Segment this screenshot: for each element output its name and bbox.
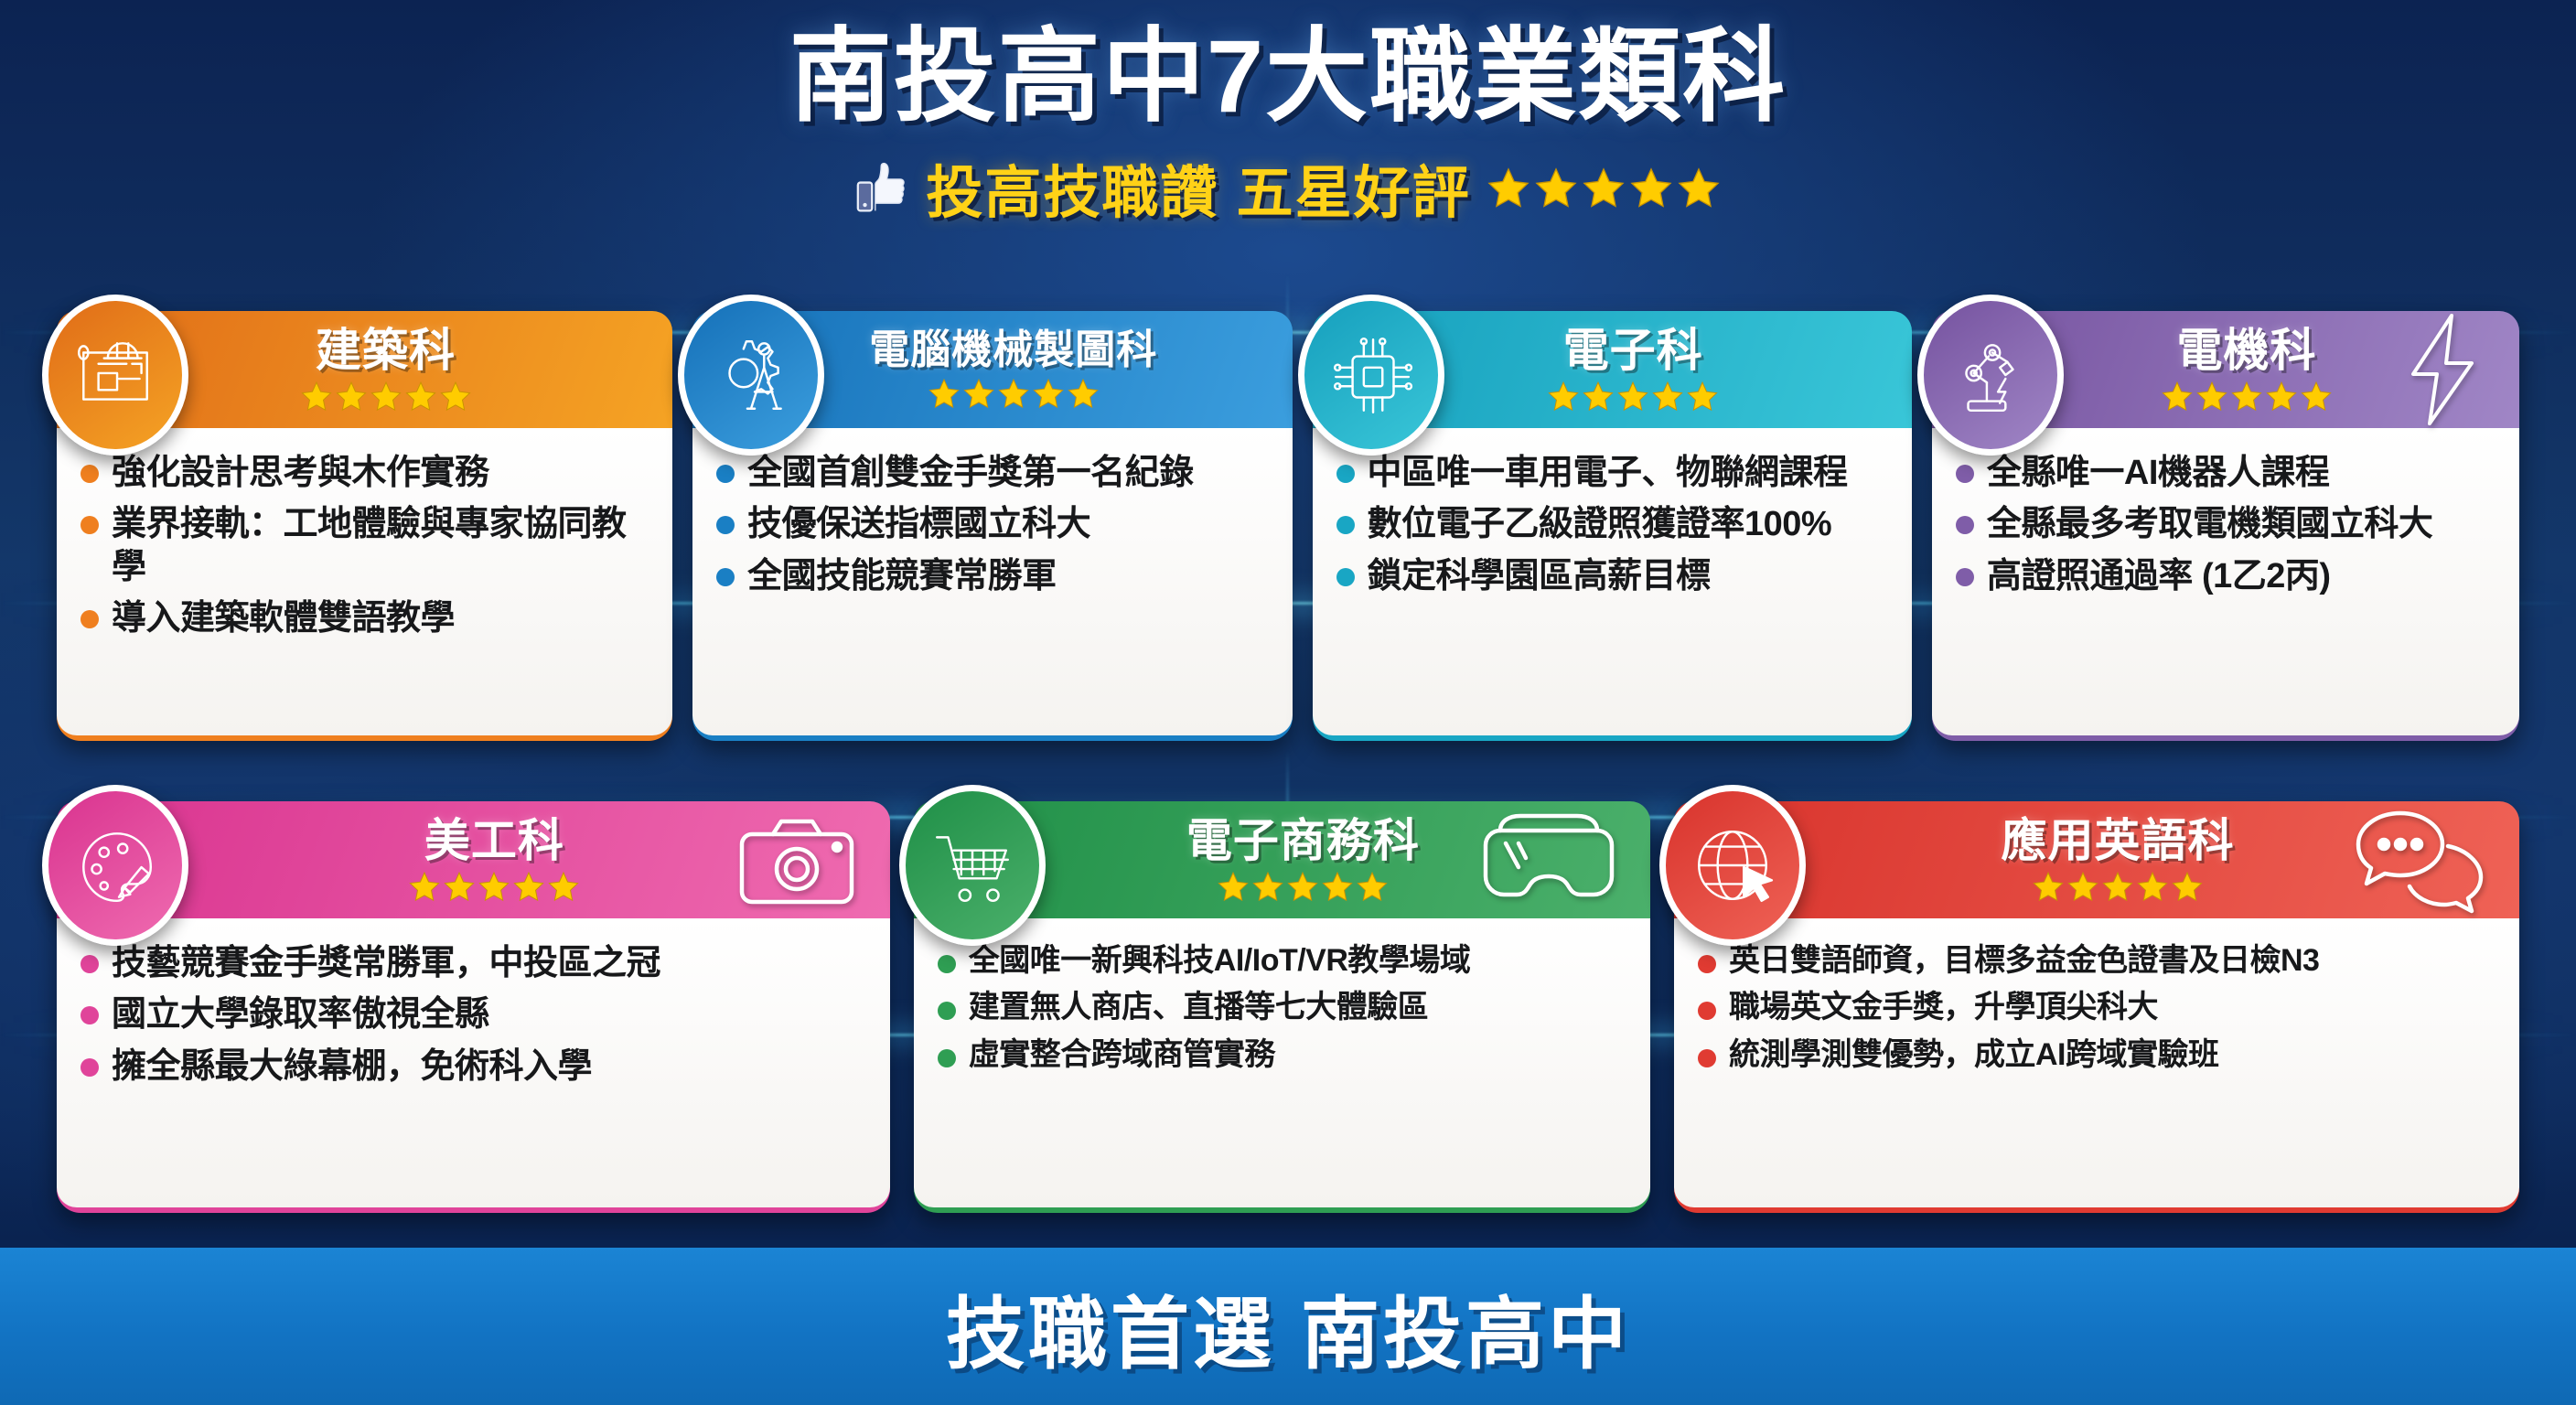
star-icon [1678,166,1720,209]
card-bullet: 導入建築軟體雙語教學 [80,597,652,639]
bullet-text: 業界接軌：工地體驗與專家協同教學 [112,503,652,588]
bullet-text: 中區唯一車用電子、物聯網課程 [1368,452,1848,494]
star-icon [1033,378,1064,409]
star-icon [2102,871,2133,902]
card-star-rating [2162,381,2332,412]
card-bullet: 業界接軌：工地體驗與專家協同教學 [80,503,652,588]
bullet-dot-icon [80,1006,99,1024]
star-icon [1548,381,1579,412]
microchip-icon [1298,295,1444,456]
star-icon [963,378,994,409]
card-title: 應用英語科 [2002,818,2235,863]
star-icon [2137,871,2168,902]
card-header: 電子商務科 [914,801,1650,918]
star-icon [301,381,332,412]
star-icon [2162,381,2193,412]
bullet-dot-icon [1698,955,1716,973]
card-grid-bottom-row: 美工科技藝競賽金手獎常勝軍，中投區之冠國立大學錄取率傲視全縣擁全縣最大綠幕棚，免… [57,801,2519,1213]
star-icon [2231,381,2262,412]
card-bullet: 全國首創雙金手獎第一名紀錄 [716,452,1272,494]
card-bullet: 技優保送指標國立科大 [716,503,1272,545]
card-title: 美工科 [424,818,564,863]
page-title: 南投高中7大職業類科 [0,0,2576,128]
star-icon [409,871,440,902]
blueprint-helmet-icon [42,295,188,456]
card-body: 強化設計思考與木作實務業界接軌：工地體驗與專家協同教學導入建築軟體雙語教學 [57,428,672,735]
card-header: 美工科 [57,801,890,918]
star-icon [336,381,367,412]
bullet-text: 全國唯一新興科技AI/IoT/VR教學場域 [969,942,1471,980]
star-icon [1583,381,1614,412]
bullet-dot-icon [938,1002,956,1020]
program-card-5[interactable]: 美工科技藝競賽金手獎常勝軍，中投區之冠國立大學錄取率傲視全縣擁全縣最大綠幕棚，免… [57,801,890,1213]
bullet-text: 國立大學錄取率傲視全縣 [112,993,489,1035]
bullet-dot-icon [1336,465,1355,483]
bullet-dot-icon [1956,516,1974,534]
card-bullet: 全縣最多考取電機類國立科大 [1956,503,2499,545]
bullet-dot-icon [80,516,99,534]
bullet-dot-icon [1698,1002,1716,1020]
program-card-2[interactable]: 電腦機械製圖科全國首創雙金手獎第一名紀錄技優保送指標國立科大全國技能競賽常勝軍 [692,311,1292,741]
card-header: 電子科 [1313,311,1912,428]
card-title: 電子科 [1563,327,1703,373]
shopping-cart-icon [899,785,1046,946]
card-bullet: 建置無人商店、直播等七大體驗區 [938,989,1630,1026]
bullet-dot-icon [716,516,735,534]
star-icon [440,381,471,412]
star-icon [1487,166,1529,209]
card-bullet: 職場英文金手獎，升學頂尖科大 [1698,989,2499,1026]
footer-slogan: 技職首選 南投高中 [946,1270,1630,1384]
star-icon [1252,871,1283,902]
program-card-4[interactable]: 電機科全縣唯一AI機器人課程全縣最多考取電機類國立科大高證照通過率 (1乙2丙) [1932,311,2519,741]
bullet-dot-icon [1336,516,1355,534]
program-card-3[interactable]: 電子科中區唯一車用電子、物聯網課程數位電子乙級證照獲證率100%鎖定科學園區高薪… [1313,311,1912,741]
card-bullet: 英日雙語師資，目標多益金色證書及日檢N3 [1698,942,2499,980]
card-bullet: 鎖定科學園區高薪目標 [1336,555,1892,597]
card-star-rating [928,378,1099,409]
star-icon [1583,166,1625,209]
bullet-text: 全縣最多考取電機類國立科大 [1987,503,2433,545]
bullet-dot-icon [80,955,99,973]
bullet-text: 導入建築軟體雙語教學 [112,597,455,639]
bullet-text: 虛實整合跨域商管實務 [969,1036,1275,1074]
card-bullet: 高證照通過率 (1乙2丙) [1956,555,2499,597]
card-bullet: 全國唯一新興科技AI/IoT/VR教學場域 [938,942,1630,980]
palette-brush-icon [42,785,188,946]
bullet-text: 高證照通過率 (1乙2丙) [1987,555,2331,597]
star-icon [2196,381,2227,412]
bullet-text: 全國技能競賽常勝軍 [747,555,1057,597]
bullet-text: 英日雙語師資，目標多益金色證書及日檢N3 [1729,942,2319,980]
bullet-text: 全國首創雙金手獎第一名紀錄 [747,452,1194,494]
card-header: 電腦機械製圖科 [692,311,1292,428]
star-icon [1630,166,1672,209]
star-icon [2067,871,2098,902]
bullet-text: 技藝競賽金手獎常勝軍，中投區之冠 [112,942,660,984]
bullet-dot-icon [80,465,99,483]
bullet-text: 建置無人商店、直播等七大體驗區 [969,989,1429,1026]
card-header: 建築科 [57,311,672,428]
card-bullet: 擁全縣最大綠幕棚，免術科入學 [80,1046,870,1088]
bullet-dot-icon [1336,568,1355,586]
card-title: 電機科 [2176,327,2316,373]
star-icon [1357,871,1388,902]
subtitle-row: 投高技職讚 五星好評 [0,146,2576,229]
star-icon [2033,871,2064,902]
gear-compass-icon [678,295,824,456]
camera-icon [736,812,857,907]
bullet-dot-icon [716,568,735,586]
star-icon [1322,871,1353,902]
lightning-bolt-icon [2399,310,2486,429]
star-icon [2172,871,2203,902]
star-icon [405,381,436,412]
star-icon [2301,381,2332,412]
star-icon [1617,381,1648,412]
program-card-1[interactable]: 建築科強化設計思考與木作實務業界接軌：工地體驗與專家協同教學導入建築軟體雙語教學 [57,311,672,741]
program-card-7[interactable]: 應用英語科英日雙語師資，目標多益金色證書及日檢N3職場英文金手獎，升學頂尖科大統… [1674,801,2519,1213]
card-bullet: 虛實整合跨域商管實務 [938,1036,1630,1074]
bullet-dot-icon [938,1049,956,1067]
star-icon [1535,166,1577,209]
card-bullet: 全縣唯一AI機器人課程 [1956,452,2499,494]
bullet-text: 強化設計思考與木作實務 [112,452,489,494]
star-icon [513,871,544,902]
card-body: 技藝競賽金手獎常勝軍，中投區之冠國立大學錄取率傲視全縣擁全縣最大綠幕棚，免術科入… [57,918,890,1207]
bullet-dot-icon [80,610,99,628]
header-star-rating [1487,166,1720,209]
card-body: 英日雙語師資，目標多益金色證書及日檢N3職場英文金手獎，升學頂尖科大統測學測雙優… [1674,918,2519,1207]
chat-bubbles-icon [2351,806,2486,914]
star-icon [1687,381,1718,412]
card-grid-top-row: 建築科強化設計思考與木作實務業界接軌：工地體驗與專家協同教學導入建築軟體雙語教學… [57,311,2519,741]
card-bullet: 國立大學錄取率傲視全縣 [80,993,870,1035]
star-icon [1652,381,1683,412]
star-icon [1218,871,1249,902]
bullet-text: 擁全縣最大綠幕棚，免術科入學 [112,1046,592,1088]
thumbs-up-icon [856,161,909,214]
bullet-text: 鎖定科學園區高薪目標 [1368,555,1711,597]
card-bullet: 技藝競賽金手獎常勝軍，中投區之冠 [80,942,870,984]
card-body: 全國唯一新興科技AI/IoT/VR教學場域建置無人商店、直播等七大體驗區虛實整合… [914,918,1650,1207]
card-star-rating [301,381,471,412]
card-bullet: 中區唯一車用電子、物聯網課程 [1336,452,1892,494]
card-title: 電腦機械製圖科 [869,330,1157,370]
bullet-text: 職場英文金手獎，升學頂尖科大 [1729,989,2158,1026]
bullet-text: 統測學測雙優勢，成立AI跨域實驗班 [1729,1036,2219,1074]
star-icon [928,378,960,409]
bullet-text: 數位電子乙級證照獲證率100% [1368,503,1832,545]
robot-arm-icon [1917,295,2064,456]
star-icon [478,871,510,902]
card-body: 中區唯一車用電子、物聯網課程數位電子乙級證照獲證率100%鎖定科學園區高薪目標 [1313,428,1912,735]
footer-bar: 技職首選 南投高中 [0,1248,2576,1405]
star-icon [548,871,579,902]
card-bullet: 全國技能競賽常勝軍 [716,555,1272,597]
card-title: 建築科 [316,327,456,373]
star-icon [998,378,1029,409]
card-star-rating [2033,871,2203,902]
bullet-dot-icon [1956,568,1974,586]
card-header: 應用英語科 [1674,801,2519,918]
star-icon [2266,381,2297,412]
card-body: 全國首創雙金手獎第一名紀錄技優保送指標國立科大全國技能競賽常勝軍 [692,428,1292,735]
vr-headset-icon [1480,810,1617,909]
bullet-dot-icon [1698,1049,1716,1067]
bullet-text: 全縣唯一AI機器人課程 [1987,452,2330,494]
bullet-dot-icon [1956,465,1974,483]
card-bullet: 數位電子乙級證照獲證率100% [1336,503,1892,545]
bullet-dot-icon [716,465,735,483]
bullet-text: 技優保送指標國立科大 [747,503,1090,545]
bullet-dot-icon [80,1058,99,1077]
star-icon [1068,378,1099,409]
globe-cursor-icon [1659,785,1806,946]
star-icon [444,871,475,902]
program-card-6[interactable]: 電子商務科全國唯一新興科技AI/IoT/VR教學場域建置無人商店、直播等七大體驗… [914,801,1650,1213]
card-star-rating [1548,381,1718,412]
star-icon [370,381,402,412]
header: 南投高中7大職業類科 投高技職讚 五星好評 [0,0,2576,274]
card-body: 全縣唯一AI機器人課程全縣最多考取電機類國立科大高證照通過率 (1乙2丙) [1932,428,2519,735]
card-header: 電機科 [1932,311,2519,428]
card-title: 電子商務科 [1186,818,1420,863]
card-bullet: 強化設計思考與木作實務 [80,452,652,494]
card-star-rating [409,871,579,902]
card-bullet: 統測學測雙優勢，成立AI跨域實驗班 [1698,1036,2499,1074]
card-star-rating [1218,871,1388,902]
star-icon [1287,871,1318,902]
bullet-dot-icon [938,955,956,973]
subtitle-text: 投高技職讚 五星好評 [926,146,1470,229]
